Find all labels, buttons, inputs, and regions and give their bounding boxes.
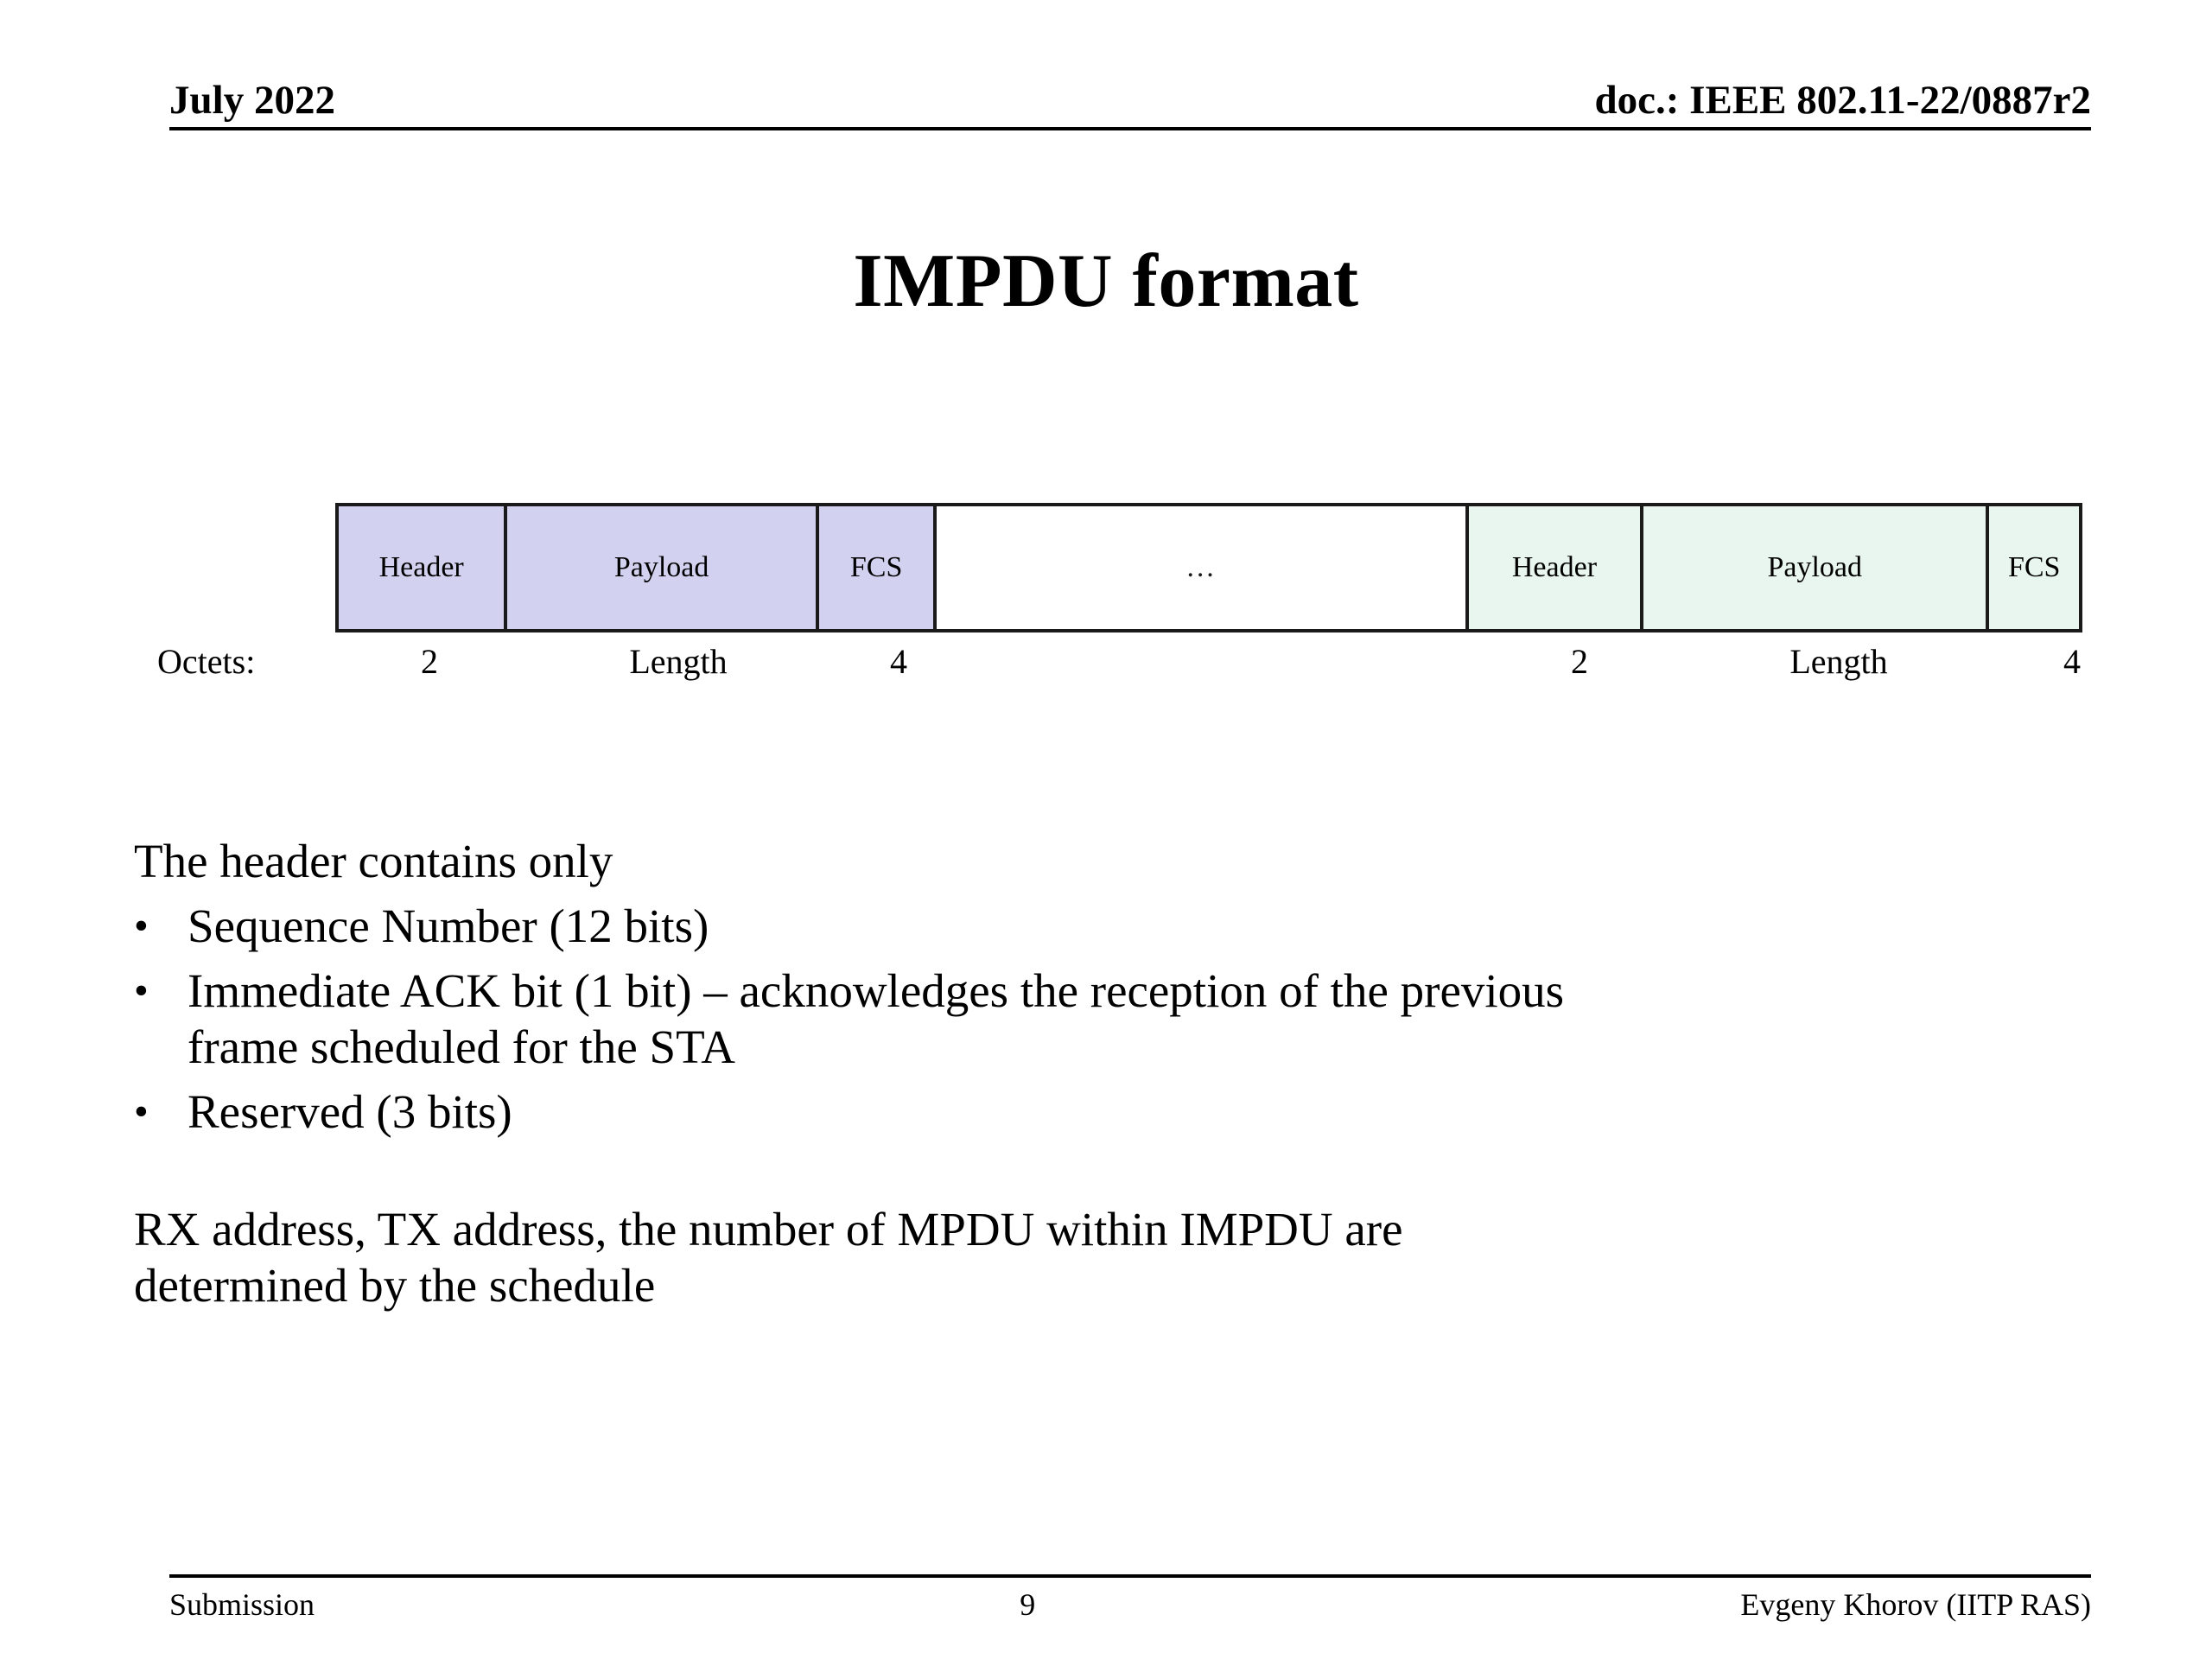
octet-value: 2 — [1571, 641, 1588, 683]
bullet-icon: • — [134, 963, 188, 1018]
frame-cell-payload-2: Payload — [1643, 506, 1989, 629]
octets-row: Octets: 2Length42Length4 — [0, 641, 2212, 693]
list-item-label: Reserved (3 bits) — [188, 1084, 2121, 1141]
page-title: IMPDU format — [0, 240, 2212, 324]
slide-footer: Submission 9 Evgeny Khorov (IITP RAS) — [169, 1574, 2091, 1624]
body-paragraph: RX address, TX address, the number of MP… — [134, 1202, 2121, 1314]
octet-value: Length — [629, 641, 727, 683]
list-item: •Reserved (3 bits) — [134, 1084, 2121, 1141]
frame-cell-label: FCS — [850, 553, 903, 582]
frame-cell-label: Payload — [614, 553, 709, 582]
octet-value: 4 — [890, 641, 907, 683]
list-item: •Sequence Number (12 bits) — [134, 899, 2121, 955]
frame-cell-fcs-2: FCS — [1989, 506, 2079, 629]
impdu-frame-diagram: HeaderPayloadFCS…HeaderPayloadFCS — [335, 503, 2082, 632]
frame-cell-label: Payload — [1767, 553, 1862, 582]
bullet-list: •Sequence Number (12 bits)•Immediate ACK… — [134, 899, 2121, 1141]
frame-cell-fcs-1: FCS — [819, 506, 938, 629]
bullet-icon: • — [134, 1084, 188, 1139]
frame-cell-payload-1: Payload — [507, 506, 819, 629]
ellipsis-icon: … — [1185, 553, 1217, 582]
slide-header: July 2022 doc.: IEEE 802.11-22/0887r2 — [169, 79, 2091, 130]
frame-cell-label: Header — [1512, 553, 1597, 582]
body-spacer — [134, 1148, 2121, 1202]
octet-value: 2 — [421, 641, 438, 683]
frame-cell-header-1: Header — [339, 506, 507, 629]
footer-submission-label: Submission — [169, 1586, 315, 1624]
frame-cell-continuation: … — [937, 506, 1468, 629]
frame-cell-header-2: Header — [1469, 506, 1643, 629]
footer-page-number: 9 — [315, 1586, 1740, 1624]
footer-author: Evgeny Khorov (IITP RAS) — [1740, 1586, 2091, 1624]
frame-cell-label: Header — [379, 553, 464, 582]
list-item: •Immediate ACK bit (1 bit) – acknowledge… — [134, 963, 2121, 1076]
octet-value: 4 — [2063, 641, 2081, 683]
octet-value: Length — [1789, 641, 1887, 683]
header-date: July 2022 — [169, 79, 335, 122]
bullet-icon: • — [134, 899, 188, 953]
list-item-label: Immediate ACK bit (1 bit) – acknowledges… — [188, 963, 2121, 1076]
header-document-id: doc.: IEEE 802.11-22/0887r2 — [1595, 79, 2091, 122]
list-item-label: Sequence Number (12 bits) — [188, 899, 2121, 955]
body-intro-line: The header contains only — [134, 834, 2121, 890]
octets-label: Octets: — [157, 641, 255, 683]
frame-cell-label: FCS — [2008, 553, 2061, 582]
slide-body: The header contains only •Sequence Numbe… — [134, 834, 2121, 1314]
